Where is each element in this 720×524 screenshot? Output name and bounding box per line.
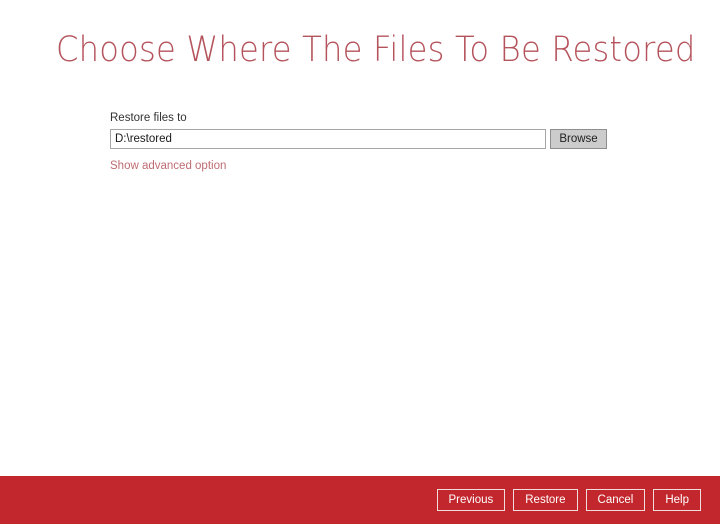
page-header: Choose Where The Files To Be Restored xyxy=(0,0,720,100)
wizard-footer: Previous Restore Cancel Help xyxy=(0,476,720,524)
page-title: Choose Where The Files To Be Restored xyxy=(56,30,695,70)
browse-button[interactable]: Browse xyxy=(550,129,607,149)
show-advanced-option-link[interactable]: Show advanced option xyxy=(110,159,226,173)
restore-location-row: Browse xyxy=(110,129,607,149)
previous-button[interactable]: Previous xyxy=(437,489,506,511)
restore-location-label: Restore files to xyxy=(110,111,187,125)
help-button[interactable]: Help xyxy=(653,489,701,511)
restore-wizard-window: Choose Where The Files To Be Restored Re… xyxy=(0,0,720,524)
cancel-button[interactable]: Cancel xyxy=(586,489,646,511)
wizard-body: Restore files to Browse Show advanced op… xyxy=(0,100,720,476)
restore-location-input[interactable] xyxy=(110,129,546,149)
restore-button[interactable]: Restore xyxy=(513,489,577,511)
